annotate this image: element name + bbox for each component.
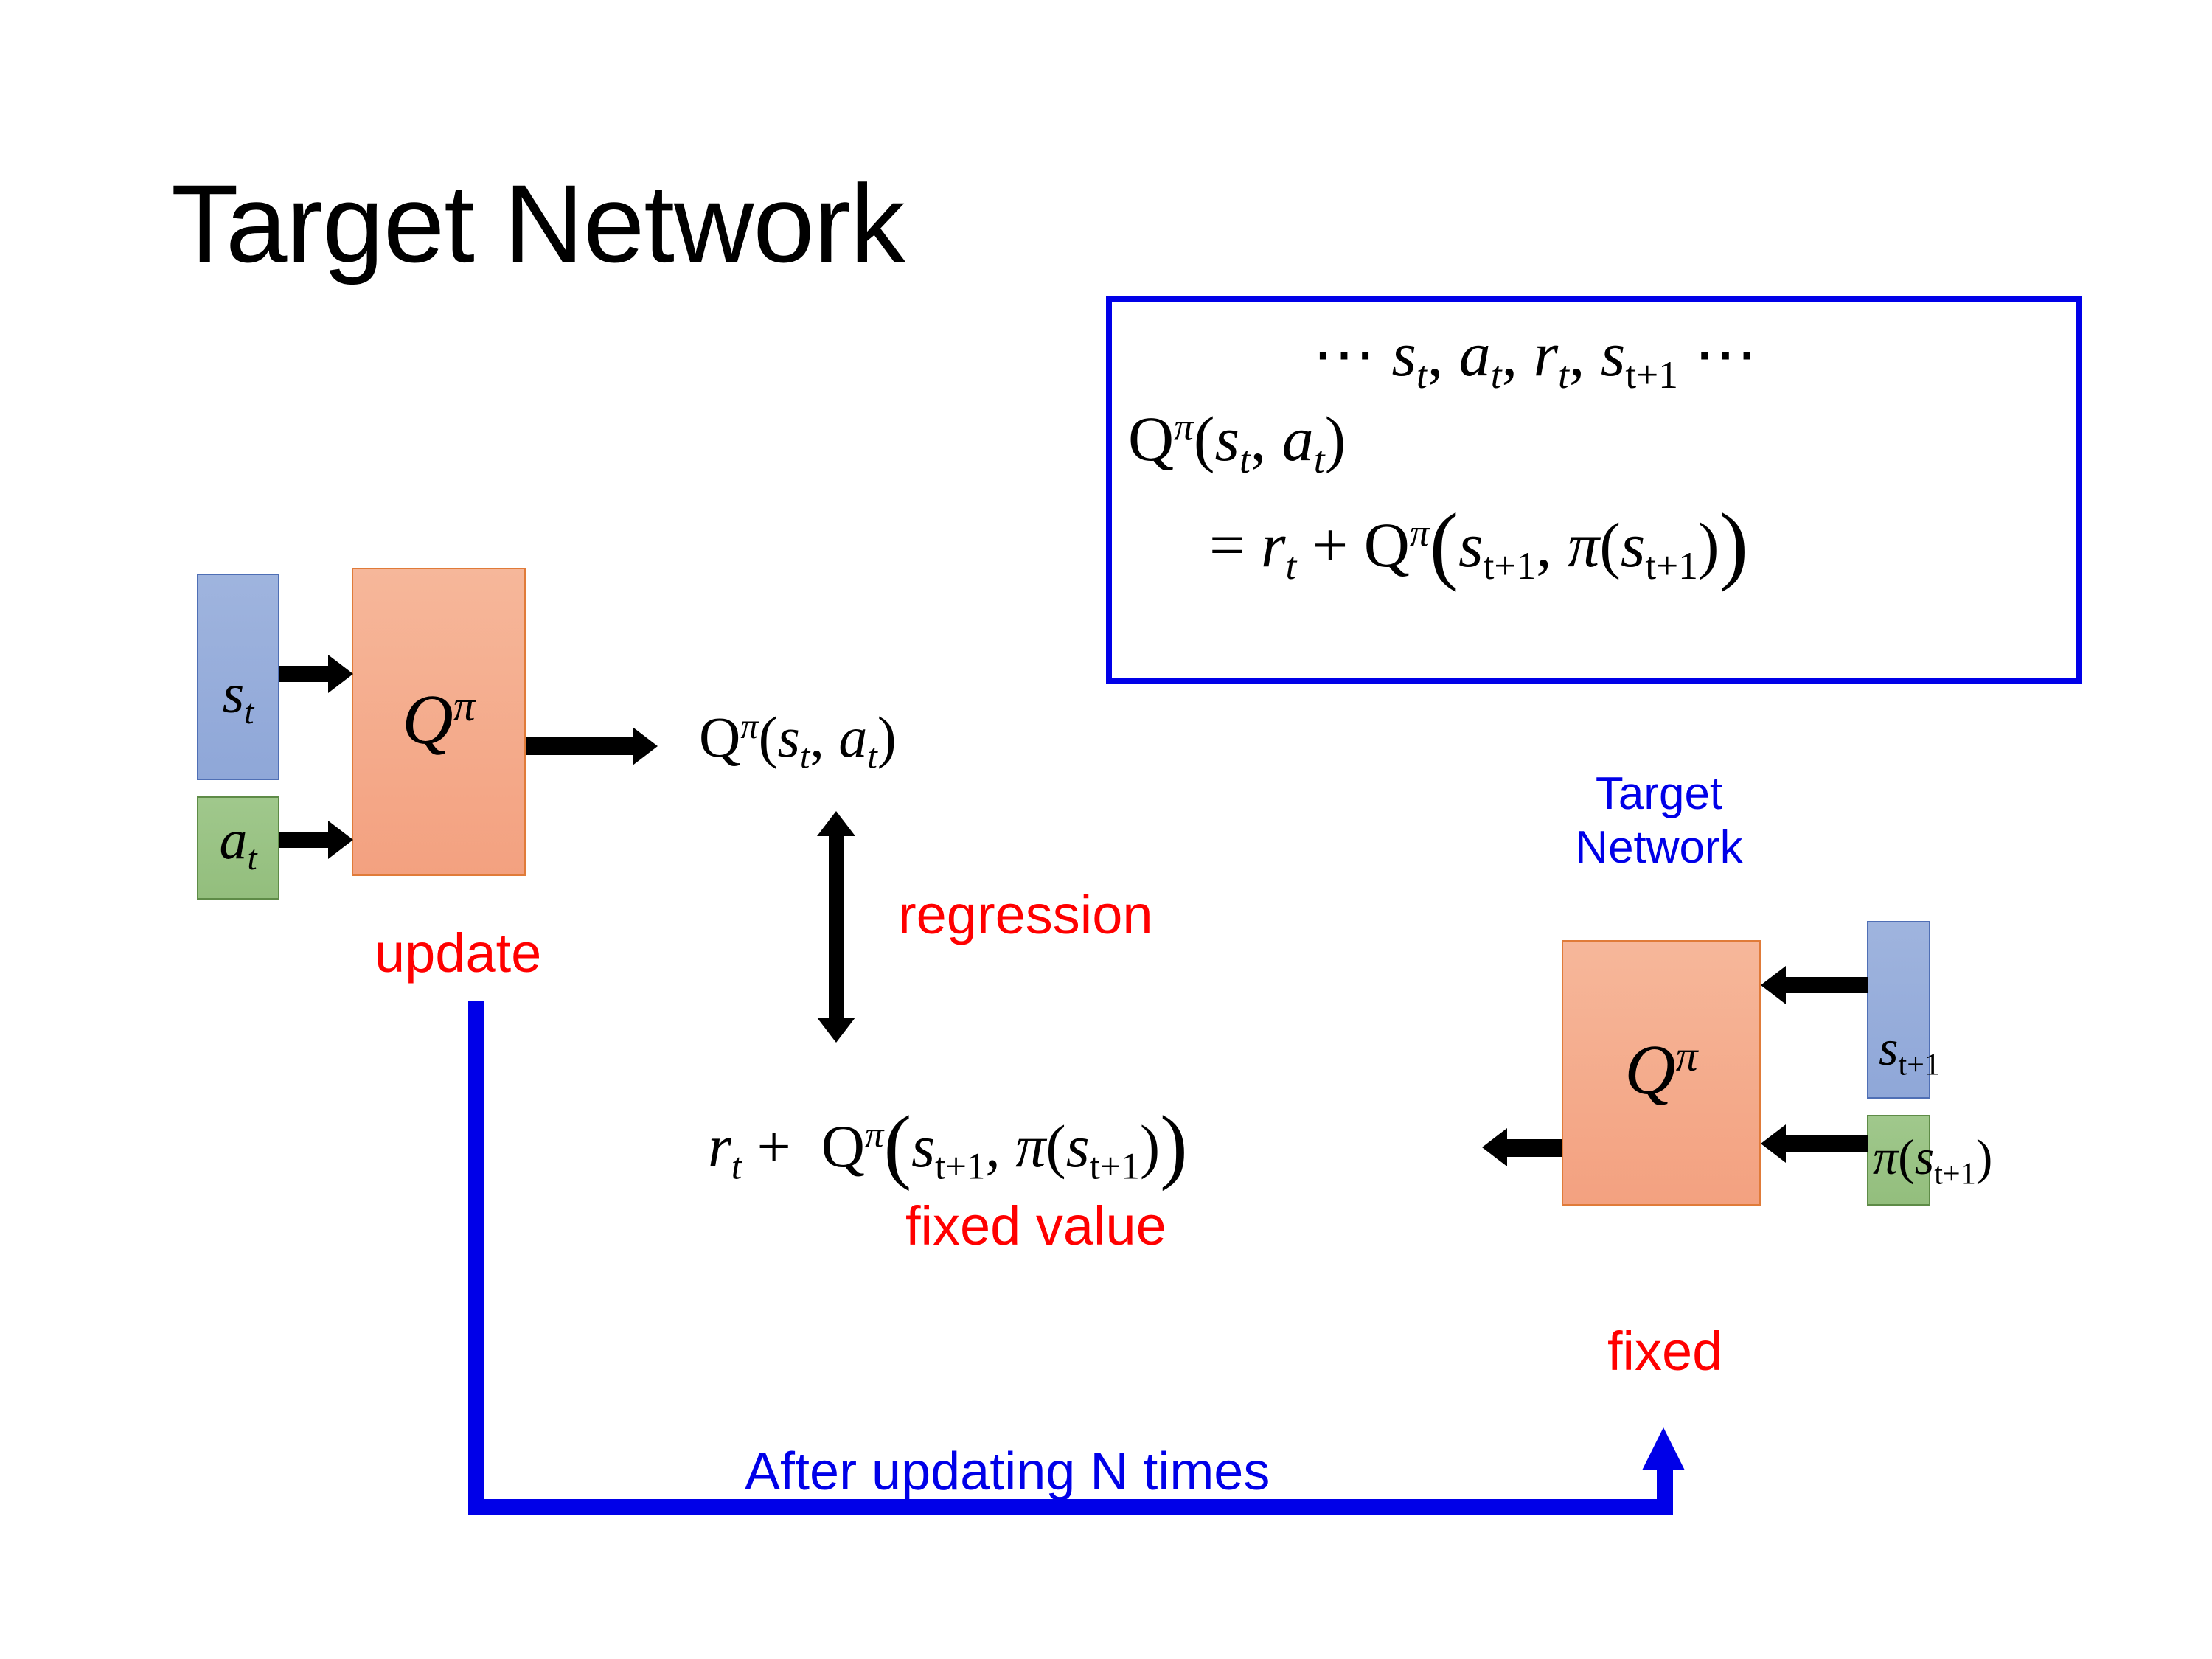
update-label: update bbox=[375, 922, 541, 984]
equation-line-2: Qπ(st, at) bbox=[1128, 402, 1346, 482]
state-input-box: st bbox=[197, 574, 279, 780]
arrow-nextstate-to-targetq-head bbox=[1761, 966, 1786, 1004]
target-network-label: Target Network bbox=[1548, 767, 1770, 874]
policy-input-label: π(st+1) bbox=[1873, 1128, 1992, 1192]
eq1-s: s bbox=[1392, 319, 1416, 389]
after-updating-label: After updating N times bbox=[745, 1441, 1270, 1502]
equation-line-3: = rt + Qπ(st+1, π(st+1)) bbox=[1209, 487, 1748, 588]
regression-arrow-head-down bbox=[817, 1018, 855, 1043]
regression-arrow-shaft bbox=[829, 833, 844, 1019]
target-network-line-2: Network bbox=[1548, 821, 1770, 874]
target-q-network-label: Qπ bbox=[1563, 1029, 1759, 1110]
eq1-r: r bbox=[1534, 319, 1558, 389]
action-input-box: at bbox=[197, 796, 279, 900]
state-input-label: st bbox=[198, 662, 278, 732]
arrow-nextstate-to-targetq-shaft bbox=[1786, 977, 1868, 993]
arrow-action-to-q-shaft bbox=[279, 832, 328, 848]
regression-arrow-head-up bbox=[817, 811, 855, 836]
target-network-line-1: Target bbox=[1548, 767, 1770, 821]
page-title: Target Network bbox=[171, 168, 905, 279]
feedback-arrow-head-icon bbox=[1642, 1427, 1685, 1470]
q-network-box: Qπ bbox=[352, 568, 526, 876]
arrow-q-to-output-head bbox=[633, 727, 658, 765]
action-input-label: at bbox=[198, 808, 278, 878]
arrow-targetq-to-value-shaft bbox=[1507, 1139, 1563, 1157]
eq1-a: a bbox=[1459, 319, 1491, 389]
arrow-policy-to-targetq-head bbox=[1761, 1124, 1786, 1163]
arrow-state-to-q-shaft bbox=[279, 666, 328, 682]
ellipsis-leading: ⋯ bbox=[1312, 319, 1376, 389]
slide-canvas: Target Network ⋯ st, at, rt, st+1 ⋯ Qπ(s… bbox=[0, 0, 2212, 1659]
q-network-label: Qπ bbox=[353, 678, 524, 760]
arrow-policy-to-targetq-shaft bbox=[1786, 1135, 1868, 1152]
ellipsis-trailing: ⋯ bbox=[1694, 319, 1757, 389]
regression-label: regression bbox=[898, 883, 1153, 946]
fixed-value-label: fixed value bbox=[905, 1194, 1166, 1257]
next-state-input-label: st+1 bbox=[1879, 1019, 1940, 1082]
fixed-label: fixed bbox=[1607, 1320, 1722, 1382]
arrow-action-to-q-head bbox=[328, 821, 353, 859]
arrow-q-to-output-shaft bbox=[526, 737, 633, 755]
arrow-targetq-to-value-head bbox=[1482, 1128, 1507, 1166]
target-value-expression: rt + Qπ(st+1, π(st+1)) bbox=[708, 1091, 1188, 1187]
q-output-expression: Qπ(st, at) bbox=[699, 704, 897, 776]
arrow-state-to-q-head bbox=[328, 655, 353, 693]
eq1-s2: s bbox=[1601, 319, 1625, 389]
feedback-path-vertical bbox=[468, 1001, 484, 1515]
feedback-path-riser bbox=[1657, 1467, 1673, 1515]
equation-line-1: ⋯ st, at, rt, st+1 ⋯ bbox=[1312, 317, 1757, 397]
target-q-network-box: Qπ bbox=[1562, 940, 1761, 1206]
